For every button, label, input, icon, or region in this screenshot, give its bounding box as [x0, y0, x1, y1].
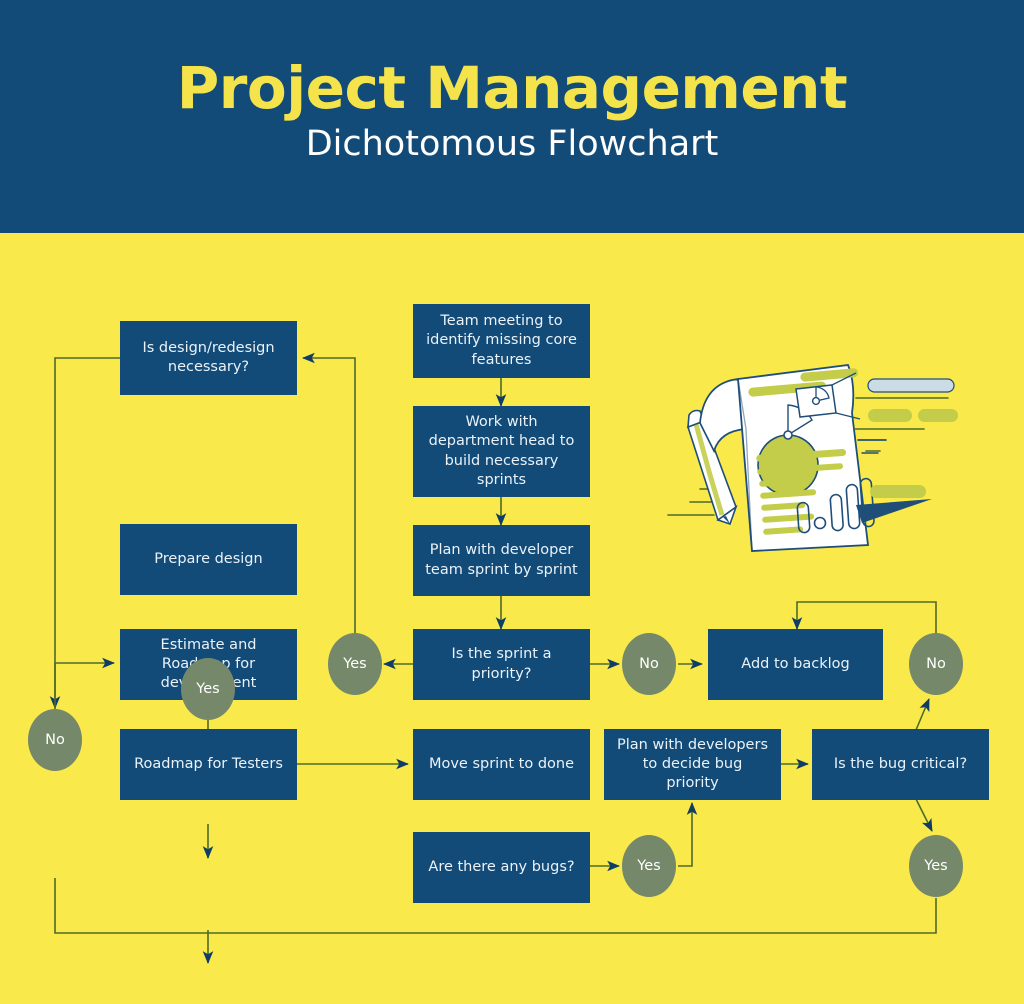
node-team-meeting[interactable]: Team meeting to identify missing core fe… — [413, 304, 590, 378]
node-move-sprint-to-done[interactable]: Move sprint to done — [413, 729, 590, 800]
node-is-sprint-a-priority[interactable]: Is the sprint a priority? — [413, 629, 590, 700]
node-work-with-department-head[interactable]: Work with department head to build neces… — [413, 406, 590, 497]
node-is-design-redesign-necessary[interactable]: Is design/redesign necessary? — [120, 321, 297, 395]
edge-n13-d5 — [916, 699, 929, 730]
report-document-with-pencil-illustration — [660, 355, 960, 575]
page-subtitle: Dichotomous Flowchart — [306, 125, 719, 164]
decision-marker-yes-sprint-priority[interactable]: Yes — [328, 633, 382, 695]
edge-d3-n6 — [303, 358, 355, 633]
decision-marker-no-sprint-priority[interactable]: No — [622, 633, 676, 695]
decision-marker-yes-design[interactable]: Yes — [181, 658, 235, 720]
node-are-there-any-bugs[interactable]: Are there any bugs? — [413, 832, 590, 903]
decision-marker-yes-bugs[interactable]: Yes — [622, 835, 676, 897]
node-plan-with-developer-team[interactable]: Plan with developer team sprint by sprin… — [413, 525, 590, 596]
decision-marker-no-design[interactable]: No — [28, 709, 82, 771]
node-plan-with-developers-bug-priority[interactable]: Plan with developers to decide bug prior… — [604, 729, 781, 800]
edge-d6-n12 — [678, 803, 692, 866]
node-roadmap-for-testers[interactable]: Roadmap for Testers — [120, 729, 297, 800]
infographic-page: Project Management Dichotomous Flowchart — [0, 0, 1024, 1004]
edge-n13-d7 — [916, 799, 932, 831]
decision-marker-yes-bug-critical[interactable]: Yes — [909, 835, 963, 897]
node-prepare-design[interactable]: Prepare design — [120, 524, 297, 595]
page-title: Project Management — [177, 58, 847, 119]
node-add-to-backlog[interactable]: Add to backlog — [708, 629, 883, 700]
node-is-the-bug-critical[interactable]: Is the bug critical? — [812, 729, 989, 800]
decision-marker-no-bug-critical[interactable]: No — [909, 633, 963, 695]
edge-n6-d1 — [55, 358, 120, 708]
decorative-pills — [868, 379, 958, 498]
flowchart-canvas: Team meeting to identify missing core fe… — [0, 233, 1024, 1004]
header-banner: Project Management Dichotomous Flowchart — [0, 0, 1024, 233]
navy-swoosh — [856, 499, 932, 523]
